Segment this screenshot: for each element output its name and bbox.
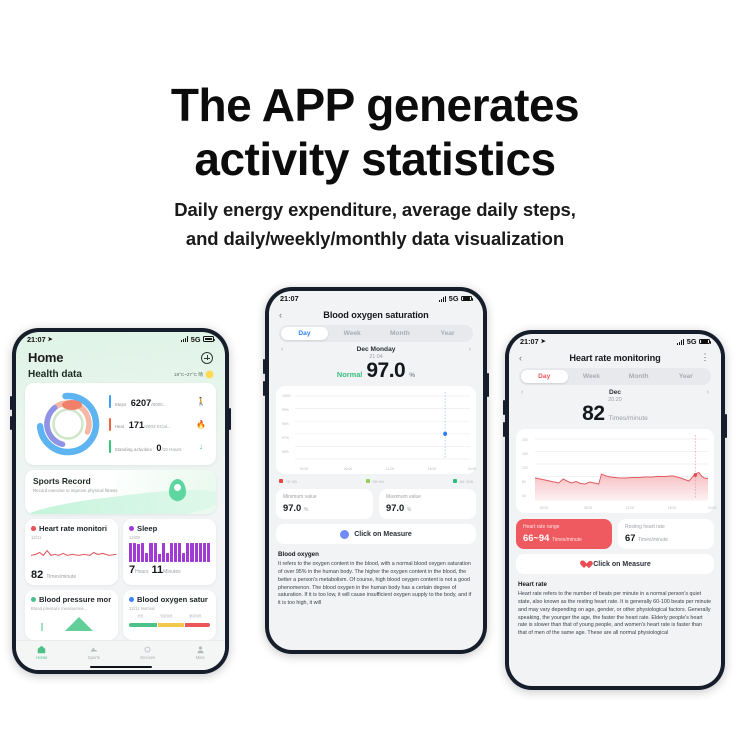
phone-button-power <box>487 373 489 397</box>
headline-line-1: The APP generates <box>0 78 750 132</box>
blood-pressure-chart <box>31 615 118 631</box>
metric-bar <box>109 395 111 408</box>
card-label: Heart rate range <box>523 524 605 531</box>
metric-name: Steps <box>115 402 127 407</box>
y-tick: 98% <box>282 422 289 426</box>
reading-value: 97.0 <box>366 359 405 383</box>
phone-button-volume-down <box>263 381 265 396</box>
heart-rate-sparkline <box>31 543 117 562</box>
subheadline-line-2: and daily/weekly/monthly data visualizat… <box>0 225 750 254</box>
card-date: 12/09 <box>129 535 210 540</box>
signal-bars-icon <box>181 336 188 342</box>
page-title: Heart rate monitoring <box>531 353 699 363</box>
y-tick: 120 <box>522 466 528 470</box>
card-value: 97.0 % <box>283 502 366 513</box>
list-item[interactable]: Standing activities 0/10 Hours ↓ <box>109 438 206 456</box>
map-pin-icon <box>169 479 186 501</box>
blood-pressure-icon <box>31 597 36 602</box>
description-section: Blood oxygen It refers to the oxygen con… <box>269 544 483 614</box>
card-title: Sleep <box>137 524 157 533</box>
phone-button-volume-up <box>263 359 265 374</box>
status-time: 21:07 <box>27 335 46 344</box>
shoe-icon <box>89 645 98 654</box>
status-bar: 21:07 5G <box>269 291 483 306</box>
description-body: It refers to the oxygen content in the b… <box>278 561 474 608</box>
home-icon <box>37 645 46 654</box>
add-icon[interactable] <box>201 352 213 364</box>
person-icon <box>196 645 205 654</box>
legend-item: 90~94 <box>366 479 384 484</box>
card-sleep[interactable]: Sleep 12/09 7Hours 11Minutes <box>123 519 216 585</box>
date-label: Dec Monday <box>357 346 396 353</box>
arrow-down-icon: ↓ <box>196 442 206 451</box>
tab-day[interactable]: Day <box>281 327 329 340</box>
kebab-menu-icon[interactable]: ⋮ <box>699 355 711 360</box>
battery-icon <box>699 339 710 345</box>
date-label: Dec <box>609 389 621 396</box>
status-time: 21:07 <box>520 337 539 346</box>
x-tick: 18:00 <box>428 467 437 471</box>
blood-oxygen-chart: 100% 99% 98% 97% 96% 00: <box>282 392 470 470</box>
sun-icon <box>206 371 213 378</box>
phone-mockup-home: 21:07 ➤ 5G Home Health data 18°C~27°C 晴 <box>12 328 229 674</box>
prev-date-icon[interactable]: ‹ <box>521 389 523 396</box>
card-subtitle: 12/11 Normal <box>129 606 210 611</box>
y-tick: 100% <box>282 394 291 398</box>
bottom-tab-bar: Home Sports Devices Mine <box>16 640 225 664</box>
description-body: Heart rate refers to the number of beats… <box>518 591 712 638</box>
card-resting-heart-rate: Resting heart rate 67 Times/minute <box>618 519 714 550</box>
health-data-label: Health data <box>28 369 82 380</box>
chart-legend: 70~90 90~94 94~100 <box>269 474 483 486</box>
metric-list: Steps 6207/8000... 🚶 Heat 171/2003 KCal.… <box>109 393 208 456</box>
sleep-bar-chart <box>129 543 210 562</box>
card-value: 97.0 % <box>386 502 469 513</box>
phone-button-volume-up <box>503 400 505 415</box>
location-arrow-icon: ➤ <box>48 336 53 343</box>
blood-oxygen-icon <box>129 597 134 602</box>
page-subheadline: Daily energy expenditure, average daily … <box>0 196 750 253</box>
reading-unit: Times/minute <box>609 415 648 422</box>
card-subtitle: Blood pressure measureme... <box>31 606 112 611</box>
phone-button-volume-down <box>503 422 505 437</box>
heart-rate-screen: 21:07 ➤ 5G ‹ Heart rate monitoring ⋮ Day… <box>509 334 721 686</box>
heart-rate-chart: 200 150 120 80 40 <box>522 435 708 509</box>
y-tick: 40 <box>522 494 526 498</box>
tab-year[interactable]: Year <box>424 327 472 340</box>
tab-week[interactable]: Week <box>568 370 615 383</box>
nav-bar: ‹ Blood oxygen saturation <box>269 306 483 325</box>
list-item[interactable]: Heat 171/2003 KCal... 🔥 <box>109 415 206 433</box>
metric-name: Heat <box>115 424 125 429</box>
back-icon[interactable]: ‹ <box>519 353 531 363</box>
y-tick: 200 <box>522 438 528 442</box>
weather-text: 18°C~27°C 晴 <box>174 372 203 378</box>
tab-month[interactable]: Month <box>376 327 424 340</box>
status-bar: 21:07 ➤ 5G <box>509 334 721 349</box>
y-tick: 96% <box>282 450 289 454</box>
reading-unit: % <box>409 372 415 379</box>
blood-oxygen-chart-card: 100% 99% 98% 97% 96% 00: <box>276 386 476 474</box>
measure-button-label: Click on Measure <box>354 531 412 538</box>
status-time: 21:07 <box>280 294 299 303</box>
heart-rate-chart-card: 200 150 120 80 40 <box>516 429 714 513</box>
oxygen-icon <box>340 530 349 539</box>
date-selector: ‹ Dec › <box>509 385 721 397</box>
card-label: Minimum value <box>283 494 366 501</box>
oxygen-scale-bar <box>129 623 210 627</box>
prev-date-icon[interactable]: ‹ <box>281 346 283 353</box>
metric-name: Standing activities <box>115 447 152 452</box>
measure-button[interactable]: Click on Measure <box>276 524 476 544</box>
legend-item: 94~100 <box>453 479 473 484</box>
x-tick: 00:00 <box>540 506 549 510</box>
card-minimum-value: Minimum value 97.0 % <box>276 489 373 520</box>
card-maximum-value: Maximum value 97.0 % <box>379 489 476 520</box>
home-header: Home <box>16 346 225 367</box>
card-date: 12/11 <box>31 535 112 540</box>
x-tick: 24:00 <box>708 506 717 510</box>
measure-button-label: Click on Measure <box>593 561 651 568</box>
y-tick: 150 <box>522 452 528 456</box>
weather-widget: 18°C~27°C 晴 <box>174 371 213 378</box>
health-data-row: Health data 18°C~27°C 晴 <box>16 367 225 383</box>
description-title: Blood oxygen <box>278 551 474 558</box>
x-tick: 06:00 <box>344 467 353 471</box>
tab-week[interactable]: Week <box>328 327 376 340</box>
card-value: 7Hours 11Minutes <box>129 564 210 576</box>
phone-button-power <box>725 414 727 438</box>
signal-bars-icon <box>677 339 684 345</box>
list-item[interactable]: Steps 6207/8000... 🚶 <box>109 393 206 411</box>
subheadline-line-1: Daily energy expenditure, average daily … <box>0 196 750 225</box>
metric-value: 171/2003 KCal... <box>129 420 171 430</box>
tab-mine[interactable]: Mine <box>196 645 205 661</box>
current-reading: Normal 97.0 % <box>269 359 483 383</box>
x-tick: 18:00 <box>668 506 677 510</box>
x-tick: 12:00 <box>626 506 635 510</box>
tab-year[interactable]: Year <box>662 370 709 383</box>
x-tick: 24:00 <box>468 467 477 471</box>
card-label: Resting heart rate <box>625 524 707 531</box>
phone-button-power <box>229 408 231 430</box>
x-tick: 00:00 <box>300 467 309 471</box>
tab-home[interactable]: Home <box>36 645 47 661</box>
page-title: Blood oxygen saturation <box>291 310 461 320</box>
x-tick: 12:00 <box>386 467 395 471</box>
card-label: Maximum value <box>386 494 469 501</box>
activity-rings <box>31 389 105 459</box>
metric-value: 0/10 Hours <box>156 443 181 453</box>
card-blood-oxygen[interactable]: Blood oxygen satur 12/11 Normal 低氧 轻度缺氧 … <box>123 590 216 640</box>
network-label: 5G <box>449 294 459 303</box>
y-tick: 97% <box>282 436 289 440</box>
metric-card-grid: Heart rate monitori 12/11 82 Times/minut… <box>16 519 225 640</box>
phone-button-volume-down <box>10 416 12 430</box>
sports-record-card[interactable]: Sports Record Record exercise to improve… <box>25 470 216 514</box>
battery-icon <box>461 296 472 302</box>
signal-bars-icon <box>439 296 446 302</box>
reading-value: 82 <box>582 402 604 426</box>
tab-sports[interactable]: Sports <box>88 645 100 661</box>
card-heart-rate[interactable]: Heart rate monitori 12/11 82 Times/minut… <box>25 519 118 585</box>
moon-icon <box>129 526 134 531</box>
heart-icon <box>579 560 588 569</box>
card-value: 82 Times/minute <box>31 569 112 581</box>
period-segmented-control: Day Week Month Year <box>279 325 473 342</box>
y-tick: 80 <box>522 480 526 484</box>
home-screen: 21:07 ➤ 5G Home Health data 18°C~27°C 晴 <box>16 332 225 670</box>
current-reading: 82 Times/minute <box>509 402 721 426</box>
metric-bar <box>109 440 111 453</box>
back-icon[interactable]: ‹ <box>279 310 291 320</box>
legend-item: 70~90 <box>279 479 297 484</box>
card-title: Blood pressure mor <box>39 595 111 604</box>
heart-rate-stat-cards: Heart rate range 66~94 Times/minute Rest… <box>509 513 721 550</box>
date-selector: ‹ Dec Monday › <box>269 342 483 354</box>
watch-icon <box>143 645 152 654</box>
reading-status: Normal <box>337 370 362 379</box>
card-title: Blood oxygen satur <box>137 595 208 604</box>
oxygen-scale-ticks: 低氧 轻度缺氧 重度缺氧 <box>129 613 210 618</box>
next-date-icon[interactable]: › <box>469 346 471 353</box>
tab-devices[interactable]: Devices <box>140 645 155 661</box>
heart-icon <box>31 526 36 531</box>
metric-value: 6207/8000... <box>131 398 167 408</box>
blood-oxygen-screen: 21:07 5G ‹ Blood oxygen saturation Day W… <box>269 291 483 650</box>
headline-line-2: activity statistics <box>0 132 750 186</box>
period-segmented-control: Day Week Month Year <box>519 368 711 385</box>
tab-day[interactable]: Day <box>521 370 568 383</box>
next-date-icon[interactable]: › <box>707 389 709 396</box>
home-indicator <box>16 663 225 670</box>
card-blood-pressure[interactable]: Blood pressure mor Blood pressure measur… <box>25 590 118 640</box>
tab-month[interactable]: Month <box>615 370 662 383</box>
phone-button-volume-up <box>10 396 12 410</box>
card-value: 67 Times/minute <box>625 532 707 543</box>
health-summary-card[interactable]: Steps 6207/8000... 🚶 Heat 171/2003 KCal.… <box>25 383 216 465</box>
location-arrow-icon: ➤ <box>541 338 546 345</box>
nav-bar: ‹ Heart rate monitoring ⋮ <box>509 349 721 368</box>
phone-mockup-heart-rate: 21:07 ➤ 5G ‹ Heart rate monitoring ⋮ Day… <box>505 330 725 690</box>
phone-mockup-blood-oxygen: 21:07 5G ‹ Blood oxygen saturation Day W… <box>265 287 487 654</box>
y-tick: 99% <box>282 408 289 412</box>
metric-bar <box>109 418 111 431</box>
network-label: 5G <box>687 337 697 346</box>
card-heart-rate-range: Heart rate range 66~94 Times/minute <box>516 519 612 550</box>
card-value: 66~94 Times/minute <box>523 532 605 543</box>
min-max-cards: Minimum value 97.0 % Maximum value 97.0 … <box>269 486 483 520</box>
card-title: Heart rate monitori <box>39 524 107 533</box>
battery-icon <box>203 336 214 342</box>
network-label: 5G <box>191 335 201 344</box>
walk-icon: 🚶 <box>196 397 206 406</box>
measure-button[interactable]: Click on Measure <box>516 554 714 574</box>
description-title: Heart rate <box>518 581 712 588</box>
flame-icon: 🔥 <box>196 420 206 429</box>
description-section: Heart rate Heart rate refers to the numb… <box>509 574 721 644</box>
status-bar: 21:07 ➤ 5G <box>16 332 225 346</box>
page-title: Home <box>28 350 63 365</box>
page-headline: The APP generates activity statistics <box>0 78 750 187</box>
x-tick: 06:00 <box>584 506 593 510</box>
